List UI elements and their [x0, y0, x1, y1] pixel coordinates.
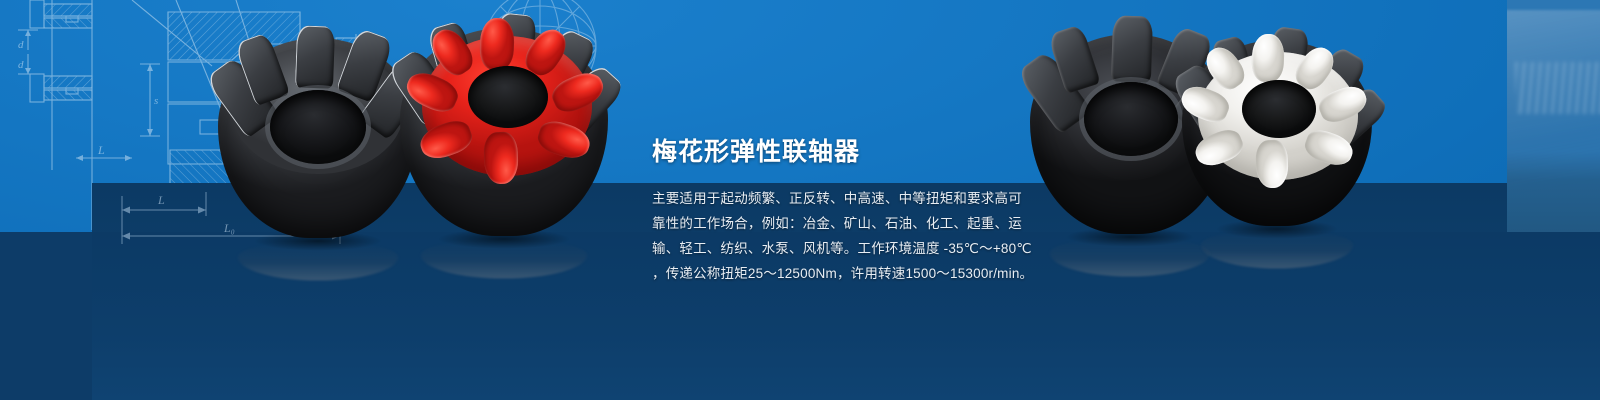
spider-lobe: [479, 17, 515, 70]
dark-left-step: [0, 232, 92, 400]
blueprint-label-d2: d: [18, 59, 24, 71]
coupling-pair-white: [1030, 14, 1375, 254]
hub-jaw: [295, 25, 335, 88]
blueprint-label-L-top: L: [97, 143, 105, 157]
description-line-2: 靠性的工作场合，例如：冶金、矿山、石油、化工、起重、运: [652, 211, 1072, 236]
spider-center-bore: [1242, 80, 1316, 138]
hub-jaw: [1111, 15, 1153, 82]
product-banner: d d s L D: [0, 0, 1600, 400]
hub-bore: [270, 90, 366, 164]
blueprint-label-s: s: [154, 95, 158, 107]
black-hub-with-red-spider: [400, 28, 608, 236]
banner-description: 主要适用于起动频繁、正反转、中高速、中等扭矩和要求高可 靠性的工作场合，例如：冶…: [652, 186, 1072, 286]
ghost-machine-image: [1507, 10, 1600, 240]
blueprint-label-d: d: [18, 39, 24, 51]
spider-center-bore: [468, 66, 548, 128]
spider-lobe: [1255, 139, 1289, 188]
dim-label-L: L: [157, 193, 165, 207]
hub-bore: [1084, 82, 1178, 156]
banner-text-block: 梅花形弹性联轴器 主要适用于起动频繁、正反转、中高速、中等扭矩和要求高可 靠性的…: [652, 138, 1072, 286]
black-hub-with-white-spider: [1182, 40, 1372, 226]
description-line-1: 主要适用于起动频繁、正反转、中高速、中等扭矩和要求高可: [652, 186, 1072, 211]
black-hub-open: [218, 38, 418, 238]
description-line-3: 输、轻工、纺织、水泵、风机等。工作环境温度 -35℃～+80℃: [652, 236, 1072, 261]
coupling-pair-red: [218, 16, 618, 252]
page-title: 梅花形弹性联轴器: [652, 138, 1072, 167]
white-elastomer-spider: [1198, 52, 1358, 180]
description-line-4: ，传递公称扭矩25～12500Nm，许用转速1500～15300r/min。: [652, 261, 1072, 286]
spider-lobe: [483, 131, 519, 184]
spider-lobe: [1251, 33, 1285, 82]
red-elastomer-spider: [422, 36, 592, 176]
